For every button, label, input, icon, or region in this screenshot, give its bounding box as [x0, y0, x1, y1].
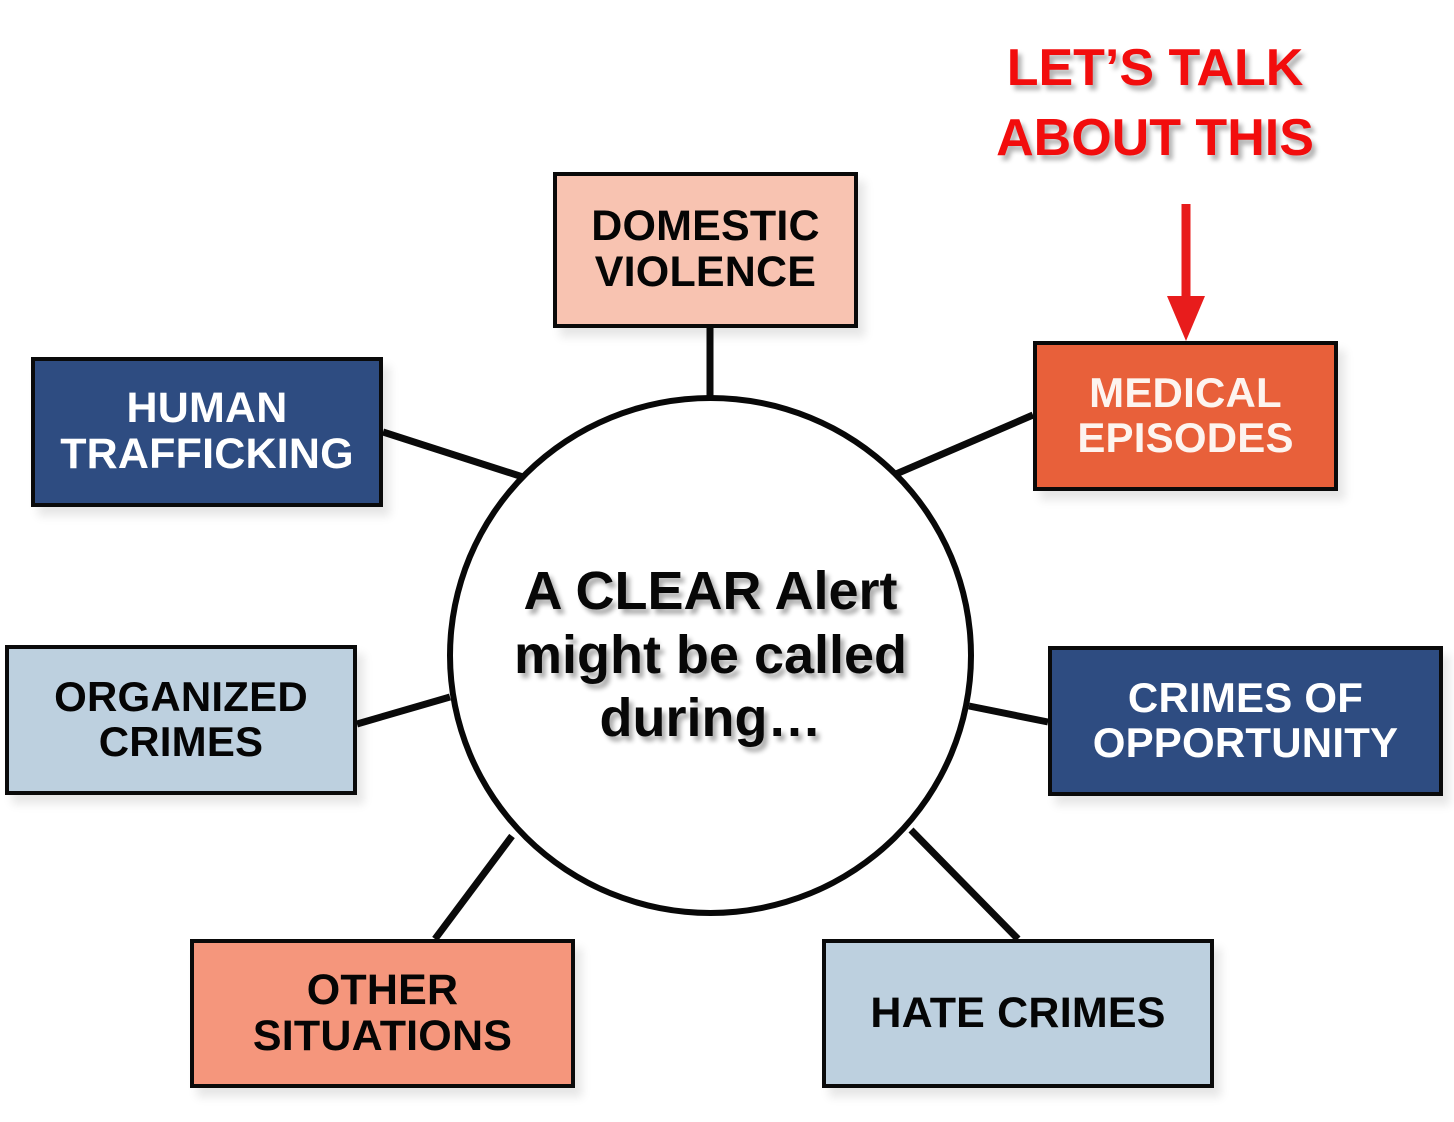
callout-line-1: LET’S TALK — [946, 34, 1364, 104]
connector-organized-crimes — [357, 697, 450, 724]
node-label-line-2: VIOLENCE — [595, 250, 816, 296]
node-label-line-2: SITUATIONS — [253, 1014, 512, 1060]
node-medical-episodes[interactable]: MEDICAL EPISODES — [1033, 341, 1338, 491]
connector-other-situations — [435, 836, 512, 939]
node-domestic-violence[interactable]: DOMESTIC VIOLENCE — [553, 172, 858, 328]
connector-medical-episodes — [896, 415, 1033, 474]
node-label-line-1: HATE CRIMES — [870, 991, 1165, 1037]
node-label-line-1: ORGANIZED — [54, 675, 308, 720]
diagram-canvas: LET’S TALK ABOUT THIS A CLEAR Alert migh… — [0, 0, 1454, 1122]
callout-line-2: ABOUT THIS — [946, 104, 1364, 174]
node-label-line-2: TRAFFICKING — [60, 432, 354, 478]
node-crimes-of-opportunity[interactable]: CRIMES OF OPPORTUNITY — [1048, 646, 1443, 796]
node-label-line-1: HUMAN — [126, 386, 287, 432]
callout-heading: LET’S TALK ABOUT THIS — [946, 34, 1364, 173]
connector-crimes-of-opportunity — [969, 706, 1048, 722]
node-label-line-2: OPPORTUNITY — [1093, 721, 1399, 766]
center-hub-circle: A CLEAR Alert might be called during… — [447, 395, 974, 916]
node-label-line-1: CRIMES OF — [1128, 676, 1363, 721]
hub-label: A CLEAR Alert might be called during… — [453, 560, 968, 751]
node-organized-crimes[interactable]: ORGANIZED CRIMES — [5, 645, 357, 795]
node-label-line-1: OTHER — [307, 968, 459, 1014]
node-label-line-2: CRIMES — [99, 720, 264, 765]
node-human-trafficking[interactable]: HUMAN TRAFFICKING — [31, 357, 383, 507]
node-label-line-1: MEDICAL — [1089, 371, 1282, 416]
connector-human-trafficking — [383, 432, 526, 478]
node-hate-crimes[interactable]: HATE CRIMES — [822, 939, 1214, 1088]
node-label-line-1: DOMESTIC — [591, 204, 820, 250]
callout-arrow — [1167, 204, 1205, 341]
connector-hate-crimes — [911, 830, 1018, 939]
node-label-line-2: EPISODES — [1077, 416, 1293, 461]
node-other-situations[interactable]: OTHER SITUATIONS — [190, 939, 575, 1088]
